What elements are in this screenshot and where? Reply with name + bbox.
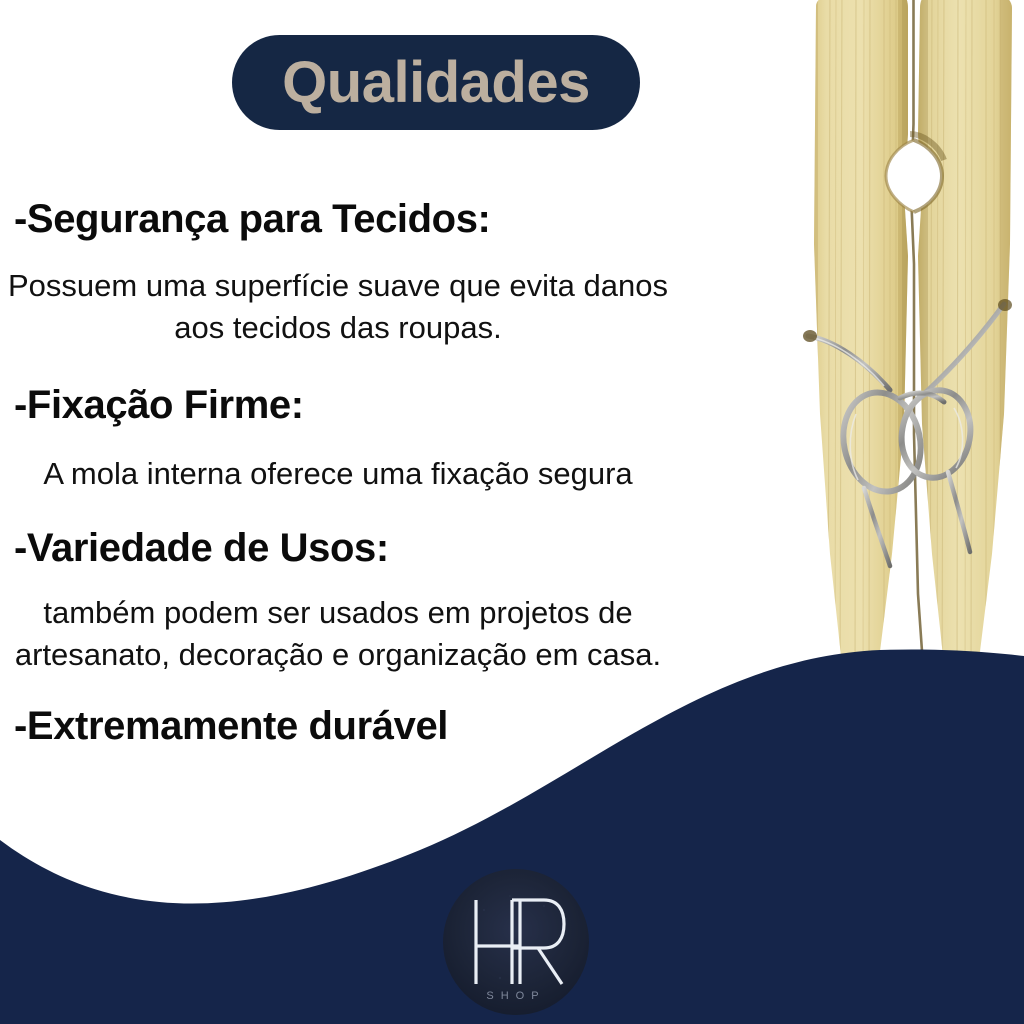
quality-item-seguranca: -Segurança para Tecidos: Possuem uma sup… — [0, 196, 690, 348]
quality-item-variedade: -Variedade de Usos: também podem ser usa… — [0, 525, 690, 675]
brand-wordmark: SHOP — [486, 990, 545, 1002]
poster-canvas: Qualidades -Segurança para Tecidos: Poss… — [0, 0, 1024, 1024]
title-badge: Qualidades — [232, 35, 640, 130]
quality-body-fixacao: A mola interna oferece uma fixação segur… — [0, 453, 690, 495]
page-title: Qualidades — [282, 54, 590, 112]
quality-item-duravel: -Extremamente durável — [0, 703, 690, 750]
quality-body-seguranca: Possuem uma superfície suave que evita d… — [0, 265, 690, 348]
quality-heading-duravel: -Extremamente durável — [0, 703, 690, 750]
quality-heading-fixacao: -Fixação Firme: — [0, 382, 690, 429]
quality-body-variedade: também podem ser usados em projetos de a… — [0, 592, 690, 675]
brand-logo-hr-shop: SHOP — [440, 866, 592, 1018]
quality-item-fixacao: -Fixação Firme: A mola interna oferece u… — [0, 382, 690, 495]
quality-heading-variedade: -Variedade de Usos: — [0, 525, 690, 572]
qualities-list: -Segurança para Tecidos: Possuem uma sup… — [0, 196, 690, 750]
quality-heading-seguranca: -Segurança para Tecidos: — [0, 196, 690, 243]
